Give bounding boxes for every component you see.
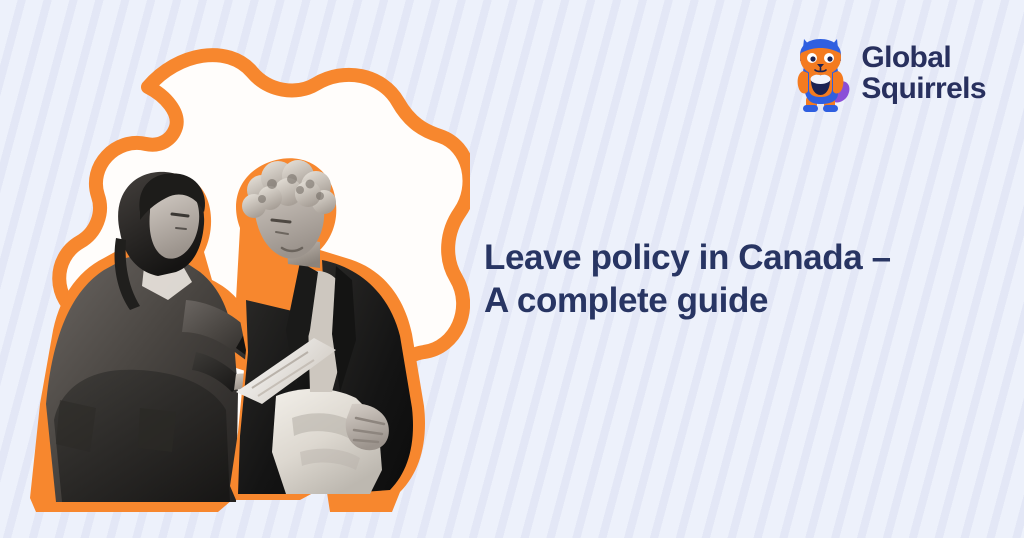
page-title: Leave policy in Canada – A complete guid… xyxy=(484,236,1004,322)
logo-wordmark: Global Squirrels xyxy=(861,43,986,104)
headline-line-2: A complete guide xyxy=(484,279,1004,322)
headline-line-1: Leave policy in Canada – xyxy=(484,236,1004,279)
banner: Leave policy in Canada – A complete guid… xyxy=(0,0,1024,538)
hero-artwork xyxy=(0,0,470,538)
logo-word-squirrels: Squirrels xyxy=(861,74,986,105)
brand-logo[interactable]: Global Squirrels xyxy=(790,33,986,115)
squirrel-mascot-icon xyxy=(790,33,852,115)
logo-word-global: Global xyxy=(861,43,986,74)
